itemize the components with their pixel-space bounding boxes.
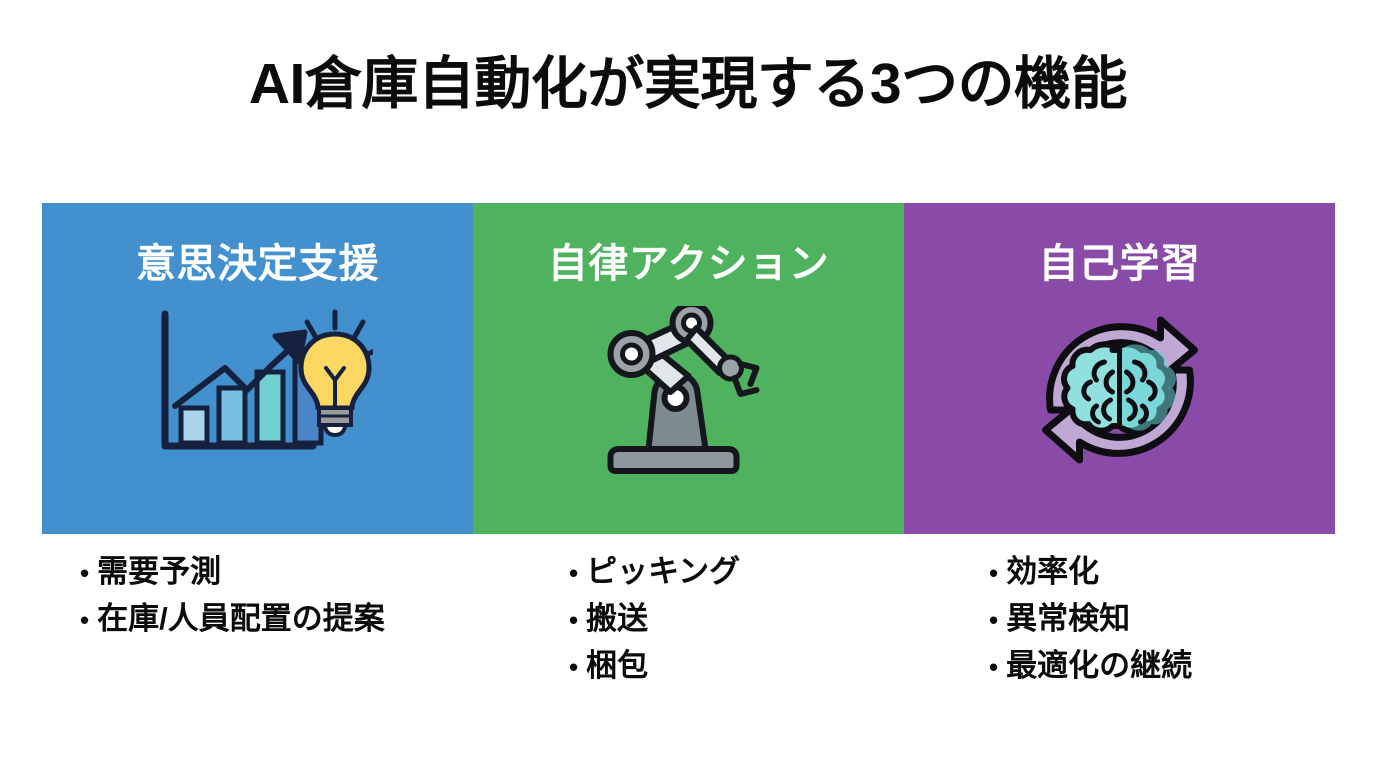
list-item-label: 搬送 bbox=[586, 603, 648, 634]
list-item: • 効率化 bbox=[989, 556, 1335, 587]
bullet-marker-icon: • bbox=[80, 560, 89, 586]
panel-heading-decision-support: 意思決定支援 bbox=[42, 231, 473, 289]
bullet-list-self-learning: • 効率化 • 異常検知 • 最適化の継続 bbox=[904, 556, 1335, 726]
page-title: AI倉庫自動化が実現する3つの機能 bbox=[0, 52, 1376, 118]
bullet-marker-icon: • bbox=[989, 654, 998, 680]
feature-bullet-row: • 需要予測 • 在庫/人員配置の提案 • ピッキング • 搬送 • 梱包 • … bbox=[42, 556, 1335, 726]
panel-heading-autonomous-action: 自律アクション bbox=[473, 231, 904, 289]
list-item-label: 需要予測 bbox=[97, 556, 221, 587]
feature-panel-band: 意思決定支援 bbox=[42, 203, 1335, 534]
bullet-marker-icon: • bbox=[989, 560, 998, 586]
bullet-list-decision-support: • 需要予測 • 在庫/人員配置の提案 bbox=[42, 556, 473, 726]
bullet-marker-icon: • bbox=[80, 607, 89, 633]
list-item-label: 異常検知 bbox=[1006, 603, 1130, 634]
robot-arm-icon bbox=[596, 306, 781, 476]
list-item: • 搬送 bbox=[569, 603, 904, 634]
list-item-label: ピッキング bbox=[586, 556, 740, 587]
list-item: • ピッキング bbox=[569, 556, 904, 587]
bullet-marker-icon: • bbox=[989, 607, 998, 633]
bullet-marker-icon: • bbox=[569, 607, 578, 633]
panel-autonomous-action[interactable]: 自律アクション bbox=[473, 203, 904, 534]
list-item: • 梱包 bbox=[569, 650, 904, 681]
growth-chart-lightbulb-icon bbox=[143, 306, 373, 471]
panel-heading-self-learning: 自己学習 bbox=[904, 231, 1335, 289]
panel-decision-support[interactable]: 意思決定支援 bbox=[42, 203, 473, 534]
panel-self-learning[interactable]: 自己学習 bbox=[904, 203, 1335, 534]
brain-cycle-icon bbox=[1032, 306, 1207, 474]
list-item-label: 効率化 bbox=[1006, 556, 1099, 587]
list-item: • 最適化の継続 bbox=[989, 650, 1335, 681]
list-item: • 需要予測 bbox=[80, 556, 473, 587]
list-item: • 異常検知 bbox=[989, 603, 1335, 634]
bullet-marker-icon: • bbox=[569, 654, 578, 680]
list-item-label: 梱包 bbox=[586, 650, 648, 681]
bullet-list-autonomous-action: • ピッキング • 搬送 • 梱包 bbox=[473, 556, 904, 726]
bullet-marker-icon: • bbox=[569, 560, 578, 586]
list-item: • 在庫/人員配置の提案 bbox=[80, 603, 473, 634]
list-item-label: 最適化の継続 bbox=[1006, 650, 1192, 681]
list-item-label: 在庫/人員配置の提案 bbox=[97, 603, 385, 634]
